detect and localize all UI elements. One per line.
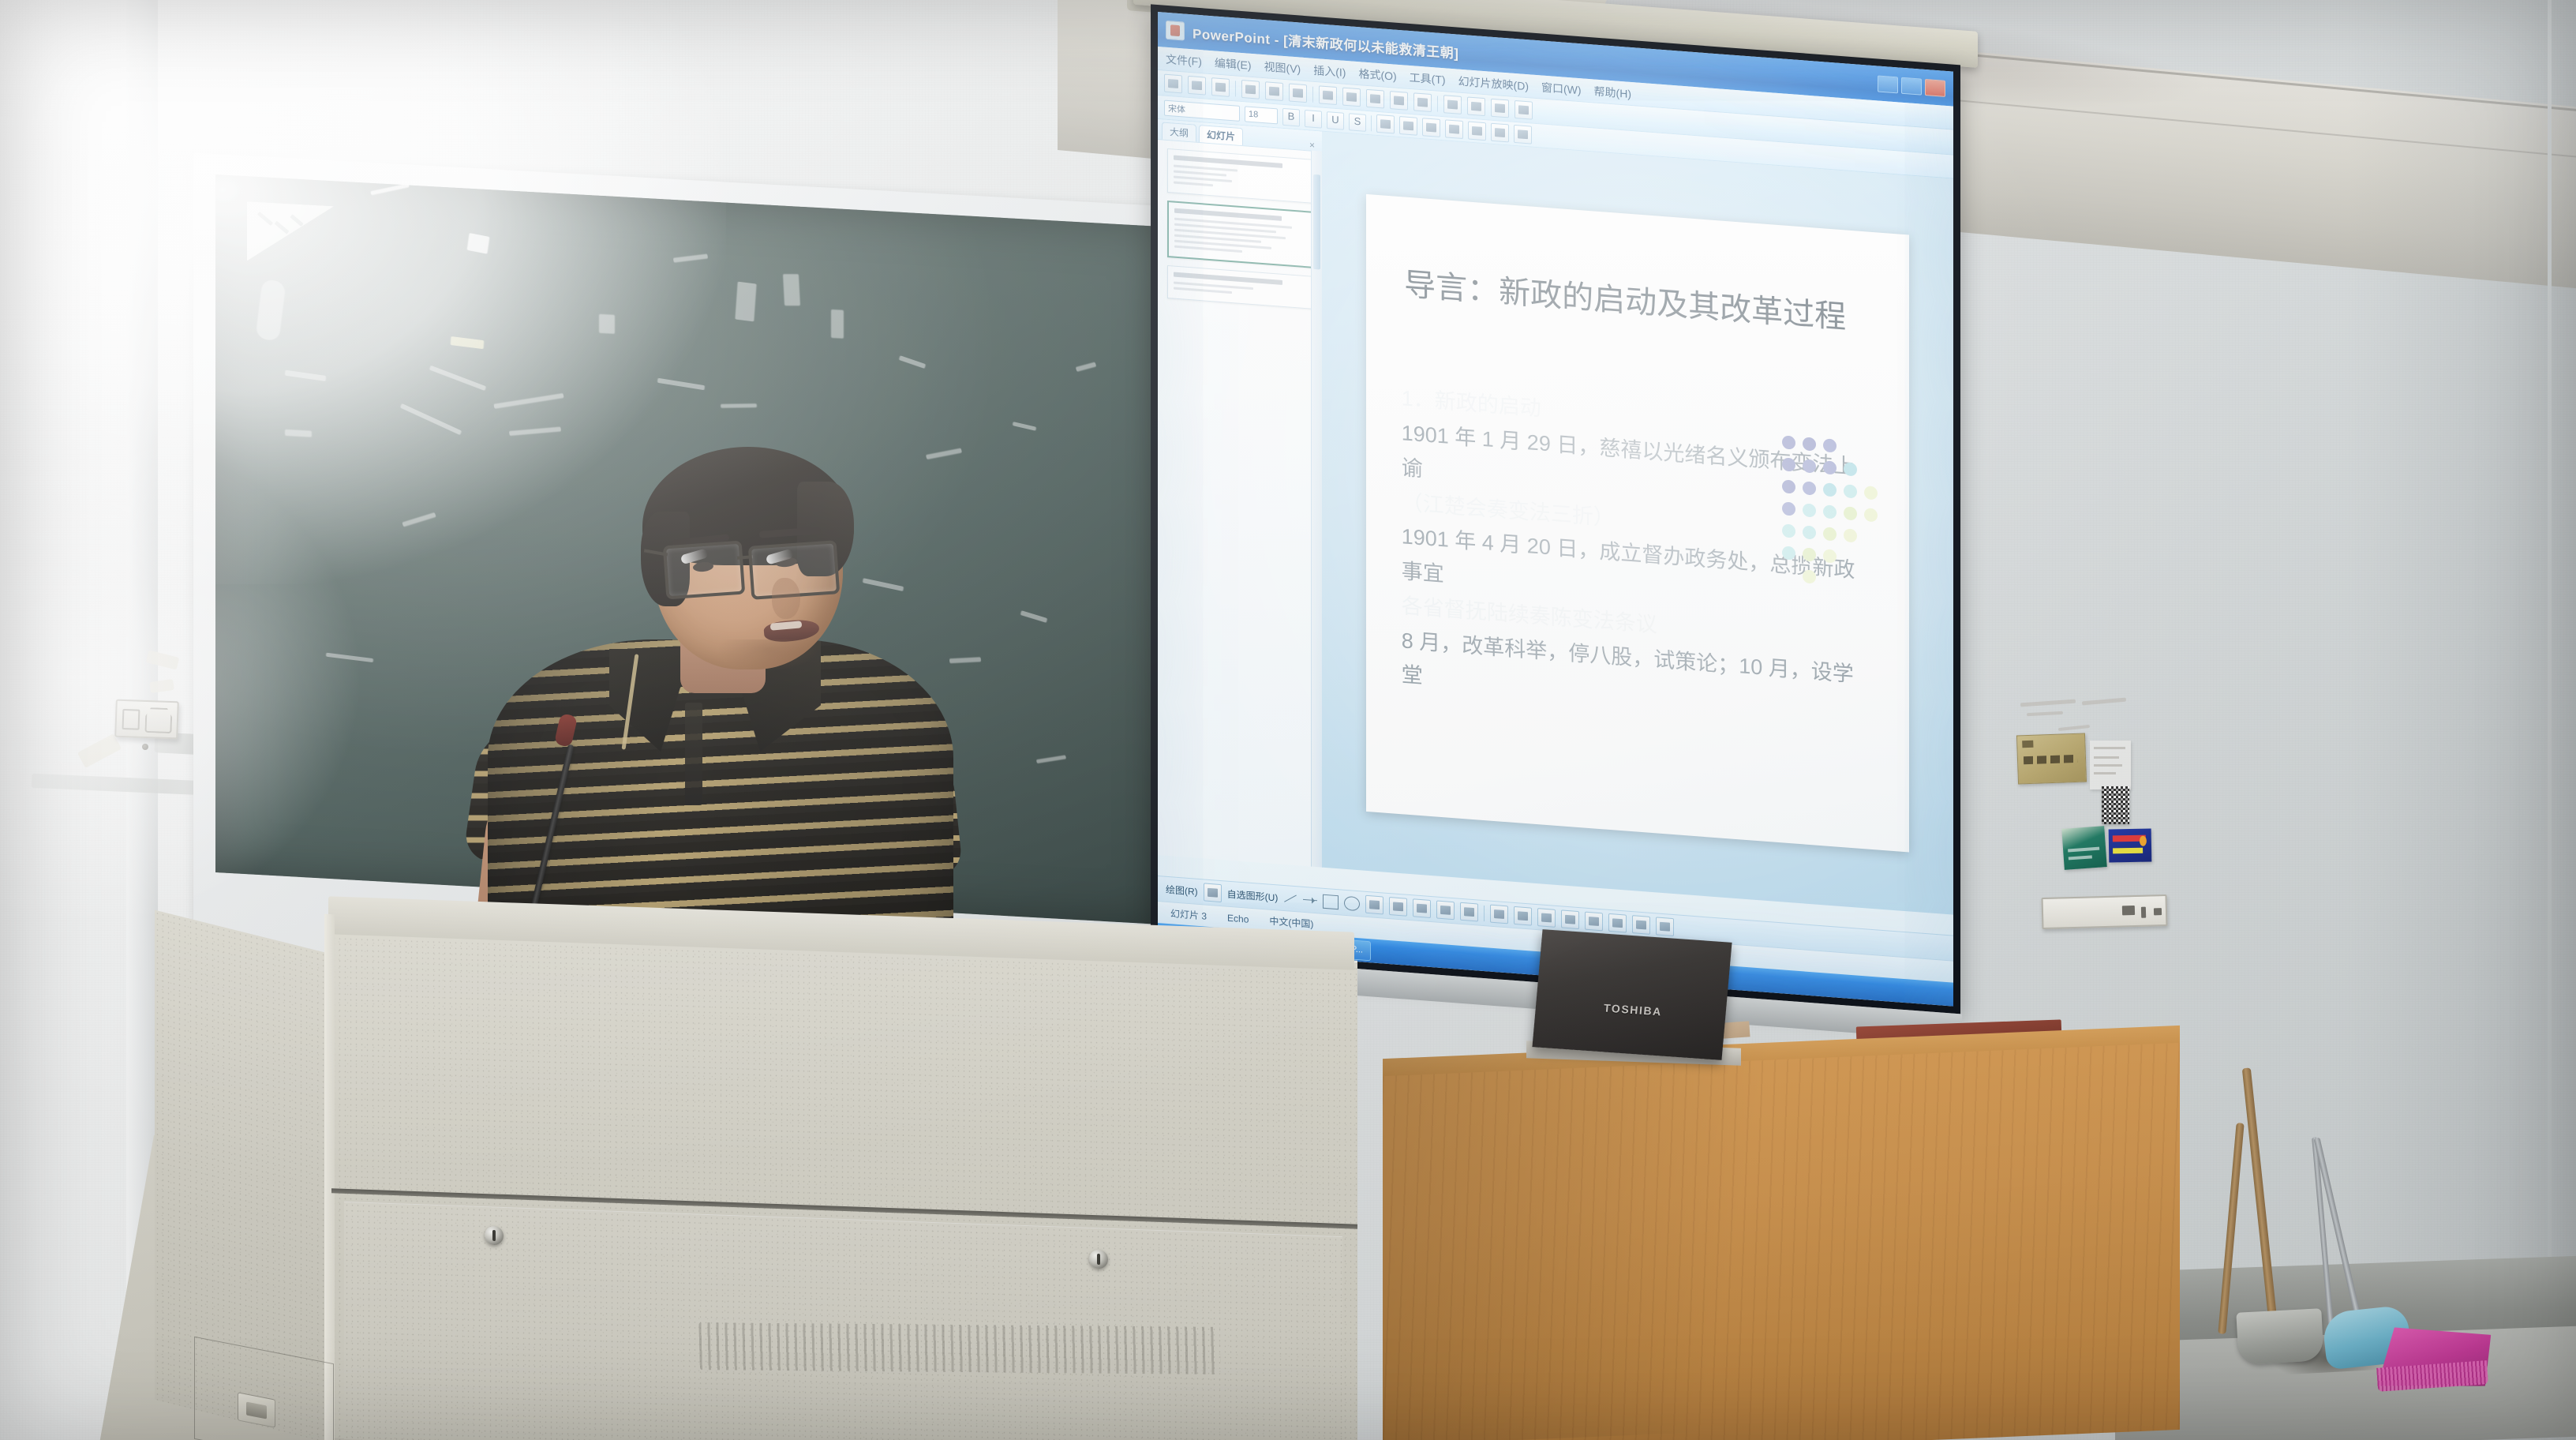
cut-icon[interactable] bbox=[1319, 85, 1337, 105]
chalk-mark bbox=[451, 336, 485, 349]
poster-dot-icon bbox=[2140, 836, 2147, 846]
deco-dot bbox=[1782, 546, 1795, 560]
deco-dot bbox=[1844, 528, 1857, 542]
chalk-mark bbox=[1076, 362, 1097, 371]
deco-dot bbox=[1823, 527, 1837, 541]
arrow-shape-icon[interactable] bbox=[1303, 899, 1317, 901]
bold-button[interactable]: B bbox=[1282, 107, 1300, 126]
powerpoint-app-icon bbox=[1166, 21, 1185, 41]
align-left-icon[interactable] bbox=[1376, 114, 1395, 134]
dustpan-shovel bbox=[2236, 1308, 2323, 1365]
menu-item-slideshow[interactable]: 幻灯片放映(D) bbox=[1458, 73, 1529, 94]
podium-ventilation-grille bbox=[698, 1322, 1220, 1374]
deco-dot bbox=[1803, 503, 1816, 517]
menu-item-help[interactable]: 帮助(H) bbox=[1594, 83, 1631, 102]
classroom-photo: PowerPoint - [清末新政何以未能救清王朝] 文件(F) 编辑(E) … bbox=[0, 0, 2576, 1440]
note-line bbox=[2094, 747, 2125, 749]
tape-mark bbox=[257, 212, 273, 226]
desk-shading bbox=[1383, 1026, 2180, 1440]
deco-dot bbox=[1864, 508, 1878, 522]
deco-dot bbox=[1844, 506, 1857, 520]
deco-dot bbox=[1823, 438, 1837, 452]
lens-glint bbox=[680, 548, 709, 564]
eyeglass-lens-left bbox=[663, 541, 745, 600]
deco-dot bbox=[1782, 457, 1795, 471]
menu-item-tools[interactable]: 工具(T) bbox=[1410, 69, 1446, 87]
wall-glare-secondary bbox=[0, 426, 363, 932]
wall-corner-edge bbox=[2548, 0, 2552, 1440]
panel-scrollbar[interactable] bbox=[1311, 151, 1322, 868]
socket-port bbox=[2122, 906, 2135, 915]
close-panel-icon[interactable]: × bbox=[1309, 139, 1318, 151]
window-controls[interactable] bbox=[1878, 75, 1945, 96]
zoom-icon[interactable] bbox=[1515, 100, 1533, 120]
podium-cam-lock-right[interactable] bbox=[1089, 1250, 1108, 1269]
chalk-mark bbox=[370, 183, 410, 195]
numbering-icon[interactable] bbox=[1468, 122, 1486, 141]
insert-picture-icon[interactable] bbox=[1491, 99, 1509, 118]
menu-item-view[interactable]: 视图(V) bbox=[1264, 58, 1301, 77]
right-corner-wall bbox=[2347, 0, 2576, 1440]
deco-dot bbox=[1782, 479, 1795, 493]
oval-shape-icon[interactable] bbox=[1344, 895, 1360, 911]
font-size-select[interactable]: 18 bbox=[1245, 106, 1278, 124]
note-line bbox=[2094, 764, 2122, 767]
wall-poster-green bbox=[2061, 826, 2106, 870]
maximize-button[interactable] bbox=[1901, 77, 1922, 95]
socket-port bbox=[2154, 908, 2162, 915]
tab-outline[interactable]: 大纲 bbox=[1162, 122, 1196, 141]
wall-poster-blue bbox=[2109, 829, 2152, 863]
line-shape-icon[interactable] bbox=[1284, 895, 1297, 902]
slide-editing-area[interactable]: 导言：新政的启动及其改革过程 1．新政的启动 1901 年 1 月 29 日，慈… bbox=[1322, 132, 1953, 915]
thumbnail-line bbox=[1174, 287, 1232, 294]
wall-qr-code-sticker bbox=[2102, 786, 2129, 824]
slides-outline-panel[interactable]: 大纲 幻灯片 × bbox=[1158, 119, 1323, 868]
chalk-mark bbox=[673, 254, 708, 263]
deco-dot bbox=[1823, 482, 1837, 497]
tab-slides[interactable]: 幻灯片 bbox=[1199, 125, 1243, 145]
lens-glint bbox=[766, 549, 794, 565]
deco-dot bbox=[1803, 547, 1816, 561]
fill-color-icon[interactable] bbox=[1490, 905, 1508, 924]
paste-icon[interactable] bbox=[1366, 89, 1384, 109]
insert-chart-icon[interactable] bbox=[1443, 95, 1462, 114]
wordart-icon[interactable] bbox=[1389, 897, 1407, 917]
menu-item-window[interactable]: 窗口(W) bbox=[1541, 79, 1582, 98]
toolbar-separator bbox=[1484, 906, 1485, 921]
laptop-lid bbox=[1532, 929, 1732, 1060]
menu-item-format[interactable]: 格式(O) bbox=[1358, 66, 1396, 84]
insert-table-icon[interactable] bbox=[1467, 96, 1485, 116]
close-button[interactable] bbox=[1925, 78, 1945, 96]
select-objects-icon[interactable] bbox=[1204, 883, 1222, 902]
chalk-mark bbox=[831, 309, 844, 339]
shirt-placket bbox=[685, 703, 702, 805]
align-right-icon[interactable] bbox=[1422, 118, 1440, 137]
print-icon[interactable] bbox=[1241, 80, 1260, 99]
slide-decoration-dot-grid bbox=[1782, 435, 1885, 593]
toolbar-separator bbox=[1312, 86, 1313, 102]
menu-item-edit[interactable]: 编辑(E) bbox=[1215, 54, 1252, 73]
deco-dot bbox=[1803, 459, 1816, 473]
chalk-mark bbox=[721, 403, 757, 408]
underline-button[interactable]: U bbox=[1327, 111, 1344, 130]
tape-mark bbox=[290, 214, 303, 227]
screen-surface: PowerPoint - [清末新政何以未能救清王朝] 文件(F) 编辑(E) … bbox=[1158, 12, 1953, 1007]
clipart-icon[interactable] bbox=[1436, 901, 1455, 921]
chalk-mark bbox=[899, 355, 926, 369]
new-icon[interactable] bbox=[1164, 74, 1182, 94]
deco-dot bbox=[1803, 569, 1816, 583]
decrease-font-icon[interactable] bbox=[1514, 125, 1532, 144]
screen-bezel: PowerPoint - [清末新政何以未能救清王朝] 文件(F) 编辑(E) … bbox=[1151, 4, 1960, 1014]
slide-title[interactable]: 导言：新政的启动及其改革过程 bbox=[1404, 258, 1877, 339]
rectangle-shape-icon[interactable] bbox=[1323, 894, 1339, 909]
chalk-mark bbox=[509, 427, 561, 437]
deco-dot bbox=[1782, 523, 1795, 538]
insert-picture-icon[interactable] bbox=[1460, 902, 1478, 922]
deco-dot bbox=[1803, 525, 1816, 539]
tape-mark bbox=[275, 221, 290, 234]
line-style-icon[interactable] bbox=[1561, 909, 1579, 929]
toolbar-separator bbox=[1437, 96, 1438, 111]
chalk-mark bbox=[493, 393, 563, 409]
podium-cam-lock-left[interactable] bbox=[485, 1226, 504, 1246]
deco-dot bbox=[1782, 501, 1795, 516]
textbox-icon[interactable] bbox=[1365, 895, 1383, 915]
deco-dot bbox=[1823, 504, 1837, 519]
arrow-style-icon[interactable] bbox=[1608, 913, 1627, 933]
deco-dot bbox=[1864, 486, 1878, 500]
chalk-mark bbox=[255, 279, 286, 342]
shadow-button[interactable]: S bbox=[1349, 113, 1366, 132]
deco-dot bbox=[1782, 435, 1795, 449]
chalk-mark bbox=[402, 512, 436, 527]
slide-thumbnail[interactable] bbox=[1167, 265, 1312, 309]
chalk-mark bbox=[467, 233, 490, 254]
wall-poster-plaque bbox=[2016, 733, 2087, 785]
deco-dot bbox=[1803, 437, 1816, 451]
poster-line bbox=[2069, 855, 2092, 860]
draw-menu-button[interactable]: 绘图(R) bbox=[1166, 883, 1198, 898]
toolbar-separator bbox=[1371, 115, 1372, 131]
laptop: TOSHIBA bbox=[1537, 936, 1750, 1062]
slide-thumbnail[interactable] bbox=[1167, 201, 1312, 268]
poster-banner-yellow bbox=[2113, 848, 2143, 854]
poster-line bbox=[2068, 847, 2099, 853]
autoshapes-menu-button[interactable]: 自选图形(U) bbox=[1227, 887, 1279, 905]
menu-item-file[interactable]: 文件(F) bbox=[1166, 51, 1202, 69]
socket-port bbox=[2141, 907, 2146, 918]
wall-poster-note bbox=[2090, 741, 2131, 789]
save-icon[interactable] bbox=[1211, 77, 1230, 97]
minimize-button[interactable] bbox=[1878, 75, 1898, 93]
slide-thumbnail[interactable] bbox=[1167, 148, 1312, 204]
spellcheck-icon[interactable] bbox=[1289, 84, 1307, 103]
line-color-icon[interactable] bbox=[1514, 906, 1532, 926]
deco-dot bbox=[1803, 481, 1816, 495]
bullets-icon[interactable] bbox=[1445, 119, 1463, 139]
chalk-mark bbox=[735, 282, 756, 322]
plaque-text-block bbox=[2024, 755, 2077, 764]
toolbar-separator bbox=[1235, 81, 1236, 96]
align-center-icon[interactable] bbox=[1399, 116, 1417, 136]
undo-icon[interactable] bbox=[1390, 91, 1408, 111]
note-line bbox=[2094, 772, 2116, 774]
chalk-mark bbox=[783, 274, 800, 306]
3d-style-icon[interactable] bbox=[1656, 917, 1674, 936]
deco-dot bbox=[1844, 462, 1857, 476]
deco-dot bbox=[1823, 549, 1837, 563]
font-color-icon[interactable] bbox=[1537, 908, 1556, 928]
dash-style-icon[interactable] bbox=[1585, 912, 1603, 932]
blackboard-corner-tape bbox=[247, 201, 334, 265]
chalk-mark bbox=[400, 403, 462, 435]
note-line bbox=[2094, 756, 2119, 759]
open-icon[interactable] bbox=[1188, 76, 1206, 96]
wall-socket-right bbox=[2042, 894, 2168, 929]
nose bbox=[772, 578, 800, 619]
podium-corner-edge bbox=[324, 914, 335, 1440]
deco-dot bbox=[1844, 484, 1857, 498]
italic-button[interactable]: I bbox=[1305, 110, 1322, 129]
wooden-desk bbox=[1383, 1042, 2180, 1440]
chalk-mark bbox=[1036, 755, 1066, 763]
chalk-mark bbox=[657, 378, 705, 390]
chin-shadow bbox=[717, 639, 819, 671]
lectern-podium bbox=[155, 914, 1386, 1440]
thumbnail-line bbox=[1174, 182, 1213, 187]
chalk-mark bbox=[1013, 422, 1036, 431]
increase-font-icon[interactable] bbox=[1491, 123, 1509, 143]
chalk-mark bbox=[285, 370, 326, 381]
scrollbar-thumb[interactable] bbox=[1313, 174, 1320, 270]
deco-dot bbox=[1823, 460, 1837, 474]
projection-screen: PowerPoint - [清末新政何以未能救清王朝] 文件(F) 编辑(E) … bbox=[1151, 0, 1964, 1038]
print-preview-icon[interactable] bbox=[1265, 81, 1283, 101]
powerpoint-window[interactable]: PowerPoint - [清末新政何以未能救清王朝] 文件(F) 编辑(E) … bbox=[1158, 12, 1953, 1007]
copy-icon[interactable] bbox=[1342, 88, 1361, 107]
redo-icon[interactable] bbox=[1413, 92, 1432, 112]
font-name-select[interactable]: 宋体 bbox=[1164, 99, 1240, 121]
chalk-mark bbox=[429, 366, 486, 391]
shadow-style-icon[interactable] bbox=[1632, 915, 1650, 935]
plaque-logo-icon bbox=[2022, 741, 2033, 748]
chalk-mark bbox=[599, 314, 615, 334]
chalk-mark bbox=[1020, 610, 1047, 623]
eyeglasses bbox=[665, 543, 844, 594]
diagram-icon[interactable] bbox=[1413, 898, 1431, 918]
current-slide[interactable]: 导言：新政的启动及其改革过程 1．新政的启动 1901 年 1 月 29 日，慈… bbox=[1366, 193, 1909, 852]
menu-item-insert[interactable]: 插入(I) bbox=[1313, 62, 1346, 80]
